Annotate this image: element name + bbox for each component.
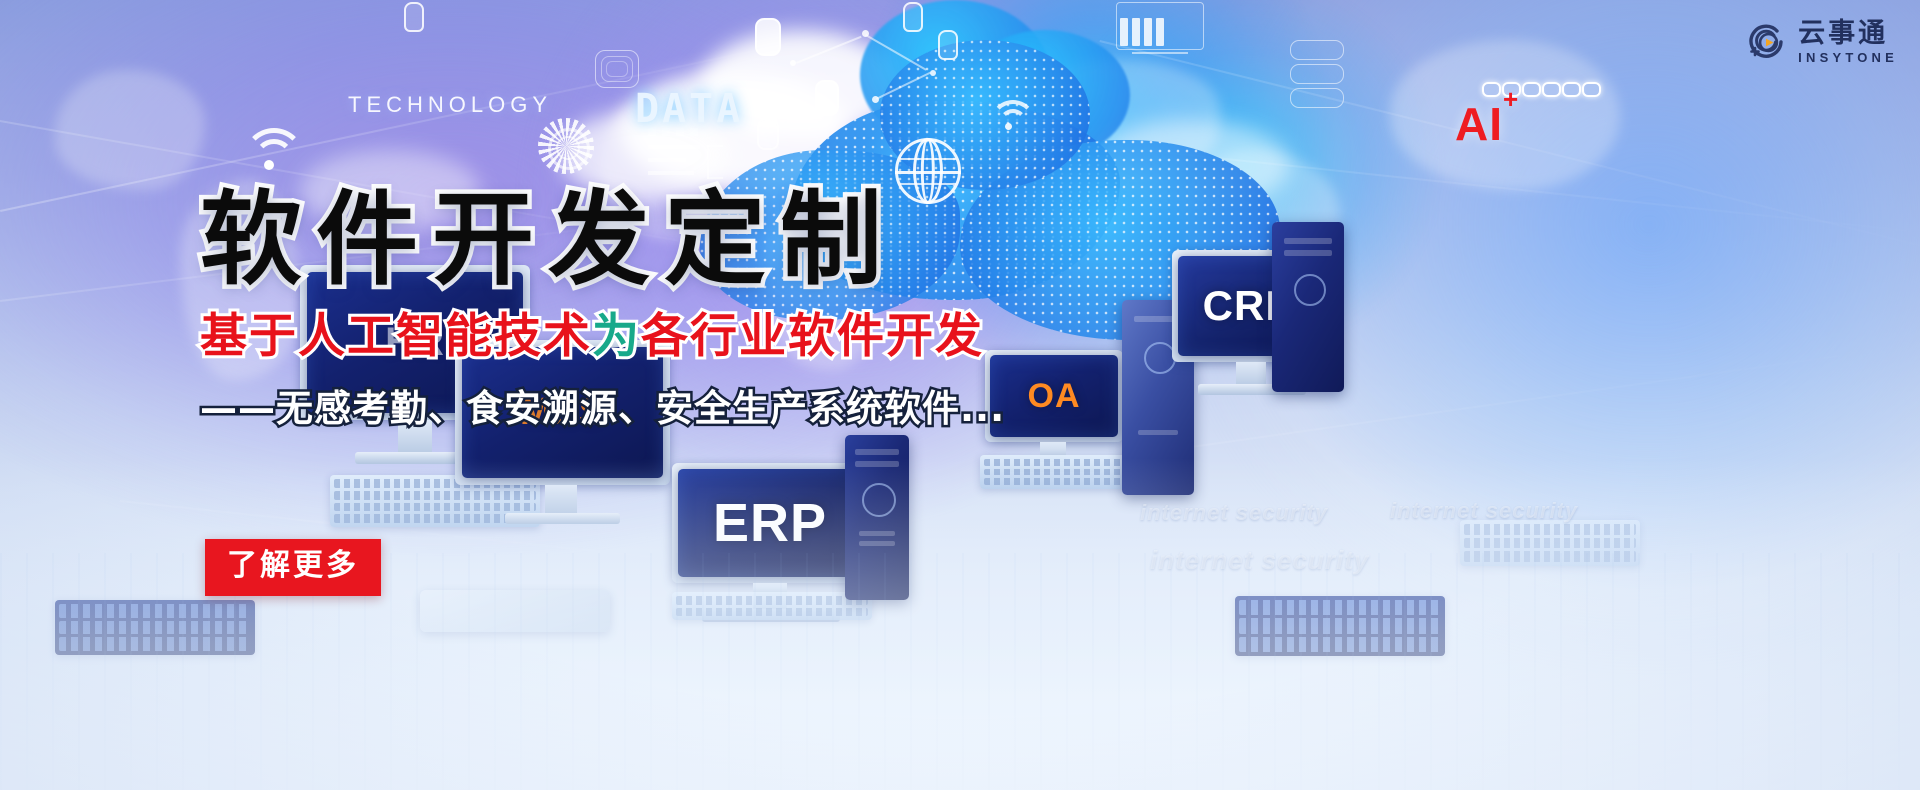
banner-copy: 软件开发定制 基于人工智能技术为各行业软件开发 ——无感考勤、食安溯源、安全生产… [0,0,1920,790]
subtitle-highlight: 为 [592,309,641,364]
subtitle-part-2: 各行业软件开发 [641,309,984,364]
page-title: 软件开发定制 [200,190,896,292]
play-circle-icon [1744,20,1788,64]
subtitle-part-1: 基于人工智能技术 [200,309,592,364]
logo-chinese-name: 云事通 [1798,20,1898,47]
banner-root: HR MES ERP [0,0,1920,790]
banner-subtitle: 基于人工智能技术为各行业软件开发 [200,313,984,360]
banner-tagline: ——无感考勤、食安溯源、安全生产系统软件... [200,390,1005,427]
brand-logo[interactable]: 云事通 INSYTONE [1744,20,1898,64]
logo-text-block: 云事通 INSYTONE [1798,20,1898,64]
learn-more-button[interactable]: 了解更多 [205,539,381,596]
logo-english-name: INSYTONE [1798,51,1898,64]
